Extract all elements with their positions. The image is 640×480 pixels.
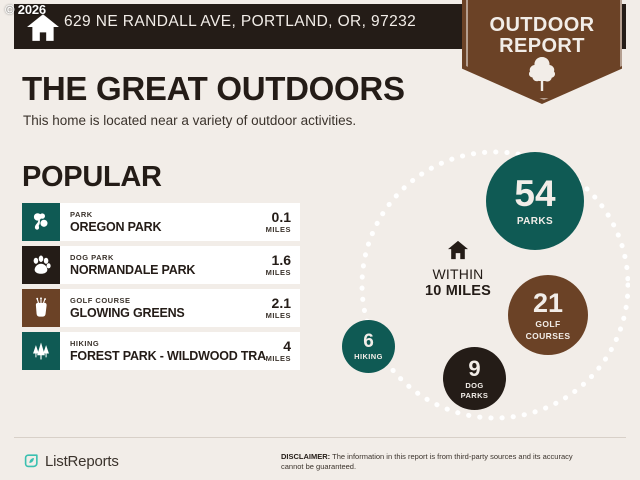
- list-item-name: NORMANDALE PARK: [70, 263, 266, 277]
- list-item-distance: 1.6 MILES: [266, 253, 300, 277]
- golf-courses-count: 21: [533, 290, 563, 317]
- list-item-name: GLOWING GREENS: [70, 306, 266, 320]
- hiking-label: HIKING: [354, 353, 383, 361]
- parks-label: PARKS: [517, 217, 553, 228]
- list-item-text: GOLF COURSE GLOWING GREENS: [60, 296, 266, 320]
- tree-icon: [525, 56, 559, 92]
- property-address: 629 NE RANDALL AVE, PORTLAND, OR, 97232: [64, 13, 416, 31]
- list-item-category: DOG PARK: [70, 253, 266, 263]
- distance-unit: MILES: [266, 311, 291, 320]
- house-icon: [447, 240, 469, 260]
- hiking-count: 6: [363, 332, 374, 351]
- summary-circle-hiking[interactable]: 6 HIKING: [342, 320, 395, 373]
- golf-courses-label-line2: COURSES: [526, 332, 571, 341]
- distance-value: 1.6: [266, 253, 291, 268]
- dog-parks-count: 9: [468, 358, 480, 380]
- list-item[interactable]: PARK OREGON PARK 0.1 MILES: [22, 203, 300, 241]
- page-subtitle: This home is located near a variety of o…: [23, 113, 356, 128]
- list-item[interactable]: DOG PARK NORMANDALE PARK 1.6 MILES: [22, 246, 300, 284]
- dog-parks-label-line2: PARKS: [461, 392, 489, 400]
- outdoor-report-page: 629 NE RANDALL AVE, PORTLAND, OR, 97232 …: [0, 0, 640, 480]
- copyright-watermark: © 2026: [5, 2, 46, 17]
- popular-list: PARK OREGON PARK 0.1 MILES DOG PARK: [22, 203, 300, 375]
- footer-divider: [14, 437, 626, 438]
- list-item[interactable]: HIKING FOREST PARK - WILDWOOD TRAIL 4 MI…: [22, 332, 300, 370]
- radius-label: 10 MILES: [396, 283, 520, 299]
- park-tree-icon: [22, 203, 60, 241]
- badge-line-2: REPORT: [462, 35, 622, 58]
- popular-heading: POPULAR: [22, 161, 162, 194]
- summary-circle-golf-courses[interactable]: 21 GOLF COURSES: [508, 275, 588, 355]
- listreports-logo-text: ListReports: [45, 453, 119, 470]
- badge-line-1: OUTDOOR: [462, 14, 622, 37]
- list-item-text: DOG PARK NORMANDALE PARK: [60, 253, 266, 277]
- disclaimer-label: DISCLAIMER:: [281, 452, 330, 461]
- listreports-logo[interactable]: ListReports: [22, 452, 119, 470]
- paw-print-icon: [22, 246, 60, 284]
- list-item-name: FOREST PARK - WILDWOOD TRAIL: [70, 349, 266, 363]
- distance-unit: MILES: [266, 354, 291, 363]
- golf-bag-icon: [22, 289, 60, 327]
- golf-courses-label-line1: GOLF: [535, 320, 560, 329]
- list-item-distance: 2.1 MILES: [266, 296, 300, 320]
- list-item[interactable]: GOLF COURSE GLOWING GREENS 2.1 MILES: [22, 289, 300, 327]
- pine-trees-icon: [22, 332, 60, 370]
- list-item-distance: 4 MILES: [266, 339, 300, 363]
- list-item-category: GOLF COURSE: [70, 296, 266, 306]
- list-item-text: PARK OREGON PARK: [60, 210, 266, 234]
- page-title: THE GREAT OUTDOORS: [22, 70, 405, 108]
- dog-parks-label-line1: DOG: [465, 382, 483, 390]
- list-item-distance: 0.1 MILES: [266, 210, 300, 234]
- within-label: WITHIN: [396, 266, 520, 282]
- distance-value: 0.1: [266, 210, 291, 225]
- summary-circle-dog-parks[interactable]: 9 DOG PARKS: [443, 347, 506, 410]
- list-item-name: OREGON PARK: [70, 220, 266, 234]
- list-item-text: HIKING FOREST PARK - WILDWOOD TRAIL: [60, 339, 266, 363]
- parks-count: 54: [514, 175, 555, 212]
- distance-value: 2.1: [266, 296, 291, 311]
- list-item-category: PARK: [70, 210, 266, 220]
- listreports-leaf-icon: [22, 452, 40, 470]
- distance-value: 4: [266, 339, 291, 354]
- distance-unit: MILES: [266, 268, 291, 277]
- distance-unit: MILES: [266, 225, 291, 234]
- summary-circle-parks[interactable]: 54 PARKS: [486, 152, 584, 250]
- list-item-category: HIKING: [70, 339, 266, 349]
- disclaimer: DISCLAIMER: The information in this repo…: [281, 452, 581, 472]
